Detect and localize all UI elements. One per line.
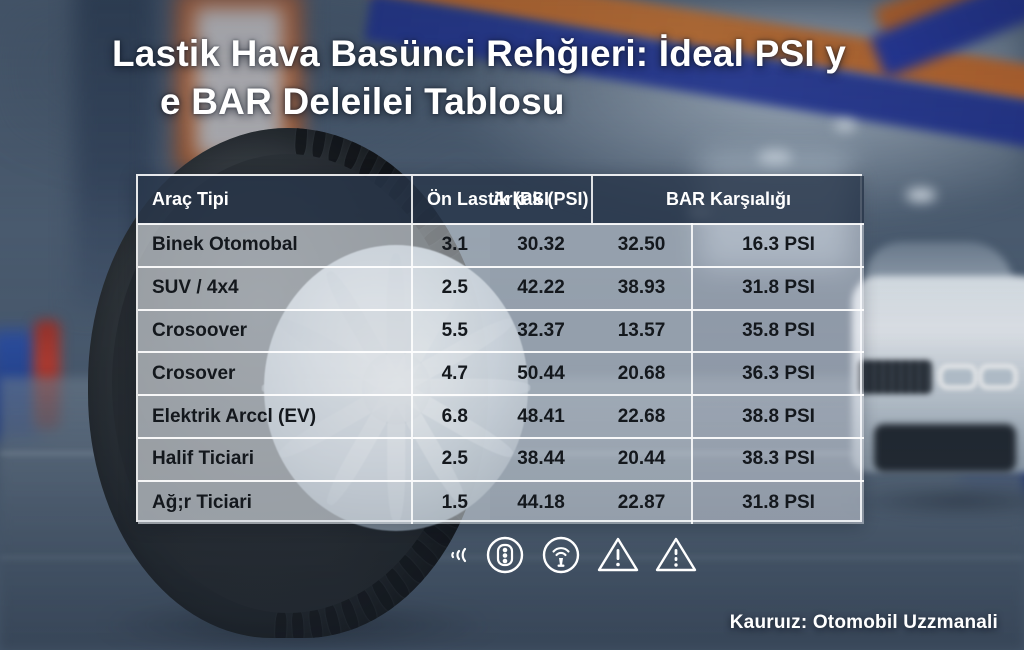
cell-bar-value: 2.5 [412, 267, 490, 310]
pressure-table: Araç Tipi Ön Lastik (PSI Arkak (PSI) BAR… [136, 174, 862, 522]
poster-canvas: Lastik Hava Basünci Rehğıeri: İdeal PSI … [0, 0, 1024, 650]
car-photo [852, 236, 1024, 496]
car-headlight-right [978, 364, 1018, 390]
table-body: Binek Otomobal3.130.3232.5016.3 PSISUV /… [138, 224, 864, 524]
warning-triangle-alt-icon [654, 535, 698, 575]
cell-bar-equivalent: 31.8 PSI [692, 481, 864, 524]
cell-vehicle-type: Elektrik Arccl (EV) [138, 395, 412, 438]
column-header-vehicle-type[interactable]: Araç Tipi [138, 176, 412, 224]
tpms-sensor-icon [484, 534, 526, 576]
car-bumper [874, 424, 1016, 472]
title-line-2: e BAR Deleilei Tablosu [160, 78, 912, 126]
table-row[interactable]: Binek Otomobal3.130.3232.5016.3 PSI [138, 224, 864, 267]
table-head: Araç Tipi Ön Lastik (PSI Arkak (PSI) BAR… [138, 176, 864, 224]
pressure-table-element: Araç Tipi Ön Lastik (PSI Arkak (PSI) BAR… [138, 176, 864, 524]
cell-bar-equivalent: 31.8 PSI [692, 267, 864, 310]
cell-front-psi: 32.37 [490, 310, 592, 353]
cell-bar-equivalent: 38.3 PSI [692, 438, 864, 481]
table-row[interactable]: Halif Ticiari2.538.4420.4438.3 PSI [138, 438, 864, 481]
cell-rear-psi: 38.93 [592, 267, 692, 310]
table-row[interactable]: Crosover4.750.4420.6836.3 PSI [138, 352, 864, 395]
tpms-icon-strip [448, 534, 698, 576]
cell-rear-psi: 20.44 [592, 438, 692, 481]
car-headlight-left [938, 364, 978, 390]
cell-vehicle-type: SUV / 4x4 [138, 267, 412, 310]
footer-credit: Kauruız: Otomobil Uzzmanali [730, 612, 998, 634]
tire-pressure-sensor-icon [540, 534, 582, 576]
cell-rear-psi: 22.87 [592, 481, 692, 524]
ceiling-light [906, 188, 936, 202]
cell-front-psi: 50.44 [490, 352, 592, 395]
cell-bar-equivalent: 16.3 PSI [692, 224, 864, 267]
cell-front-psi: 48.41 [490, 395, 592, 438]
cell-vehicle-type: Crosoover [138, 310, 412, 353]
page-title: Lastik Hava Basünci Rehğıeri: İdeal PSI … [112, 30, 912, 126]
cell-front-psi: 44.18 [490, 481, 592, 524]
warning-triangle-icon [596, 535, 640, 575]
cell-vehicle-type: Crosover [138, 352, 412, 395]
cell-bar-value: 4.7 [412, 352, 490, 395]
cell-rear-psi: 22.68 [592, 395, 692, 438]
cell-vehicle-type: Halif Ticiari [138, 438, 412, 481]
cell-front-psi: 30.32 [490, 224, 592, 267]
cell-bar-value: 2.5 [412, 438, 490, 481]
car-shadow [846, 486, 1024, 516]
tpms-sensor-waves-icon [448, 540, 470, 570]
cell-vehicle-type: Ağ;r Ticiari [138, 481, 412, 524]
table-row[interactable]: Elektrik Arccl (EV)6.848.4122.6838.8 PSI [138, 395, 864, 438]
column-header-front-psi[interactable]: Ön Lastik (PSI [412, 176, 490, 224]
cell-bar-value: 5.5 [412, 310, 490, 353]
cell-bar-value: 6.8 [412, 395, 490, 438]
title-line-1: Lastik Hava Basünci Rehğıeri: İdeal PSI … [112, 33, 846, 74]
cell-rear-psi: 13.57 [592, 310, 692, 353]
cell-vehicle-type: Binek Otomobal [138, 224, 412, 267]
cell-bar-equivalent: 35.8 PSI [692, 310, 864, 353]
cell-front-psi: 38.44 [490, 438, 592, 481]
table-row[interactable]: SUV / 4x42.542.2238.9331.8 PSI [138, 267, 864, 310]
car-grille [858, 360, 932, 394]
cell-bar-value: 3.1 [412, 224, 490, 267]
cell-front-psi: 42.22 [490, 267, 592, 310]
cell-bar-equivalent: 36.3 PSI [692, 352, 864, 395]
cell-bar-equivalent: 38.8 PSI [692, 395, 864, 438]
table-row[interactable]: Crosoover5.532.3713.5735.8 PSI [138, 310, 864, 353]
table-header-row: Araç Tipi Ön Lastik (PSI Arkak (PSI) BAR… [138, 176, 864, 224]
column-header-bar-equivalent[interactable]: BAR Karşıalığı [592, 176, 864, 224]
cell-bar-value: 1.5 [412, 481, 490, 524]
cell-rear-psi: 32.50 [592, 224, 692, 267]
column-header-rear-psi[interactable]: Arkak (PSI) [490, 176, 592, 224]
table-row[interactable]: Ağ;r Ticiari1.544.1822.8731.8 PSI [138, 481, 864, 524]
cell-rear-psi: 20.68 [592, 352, 692, 395]
